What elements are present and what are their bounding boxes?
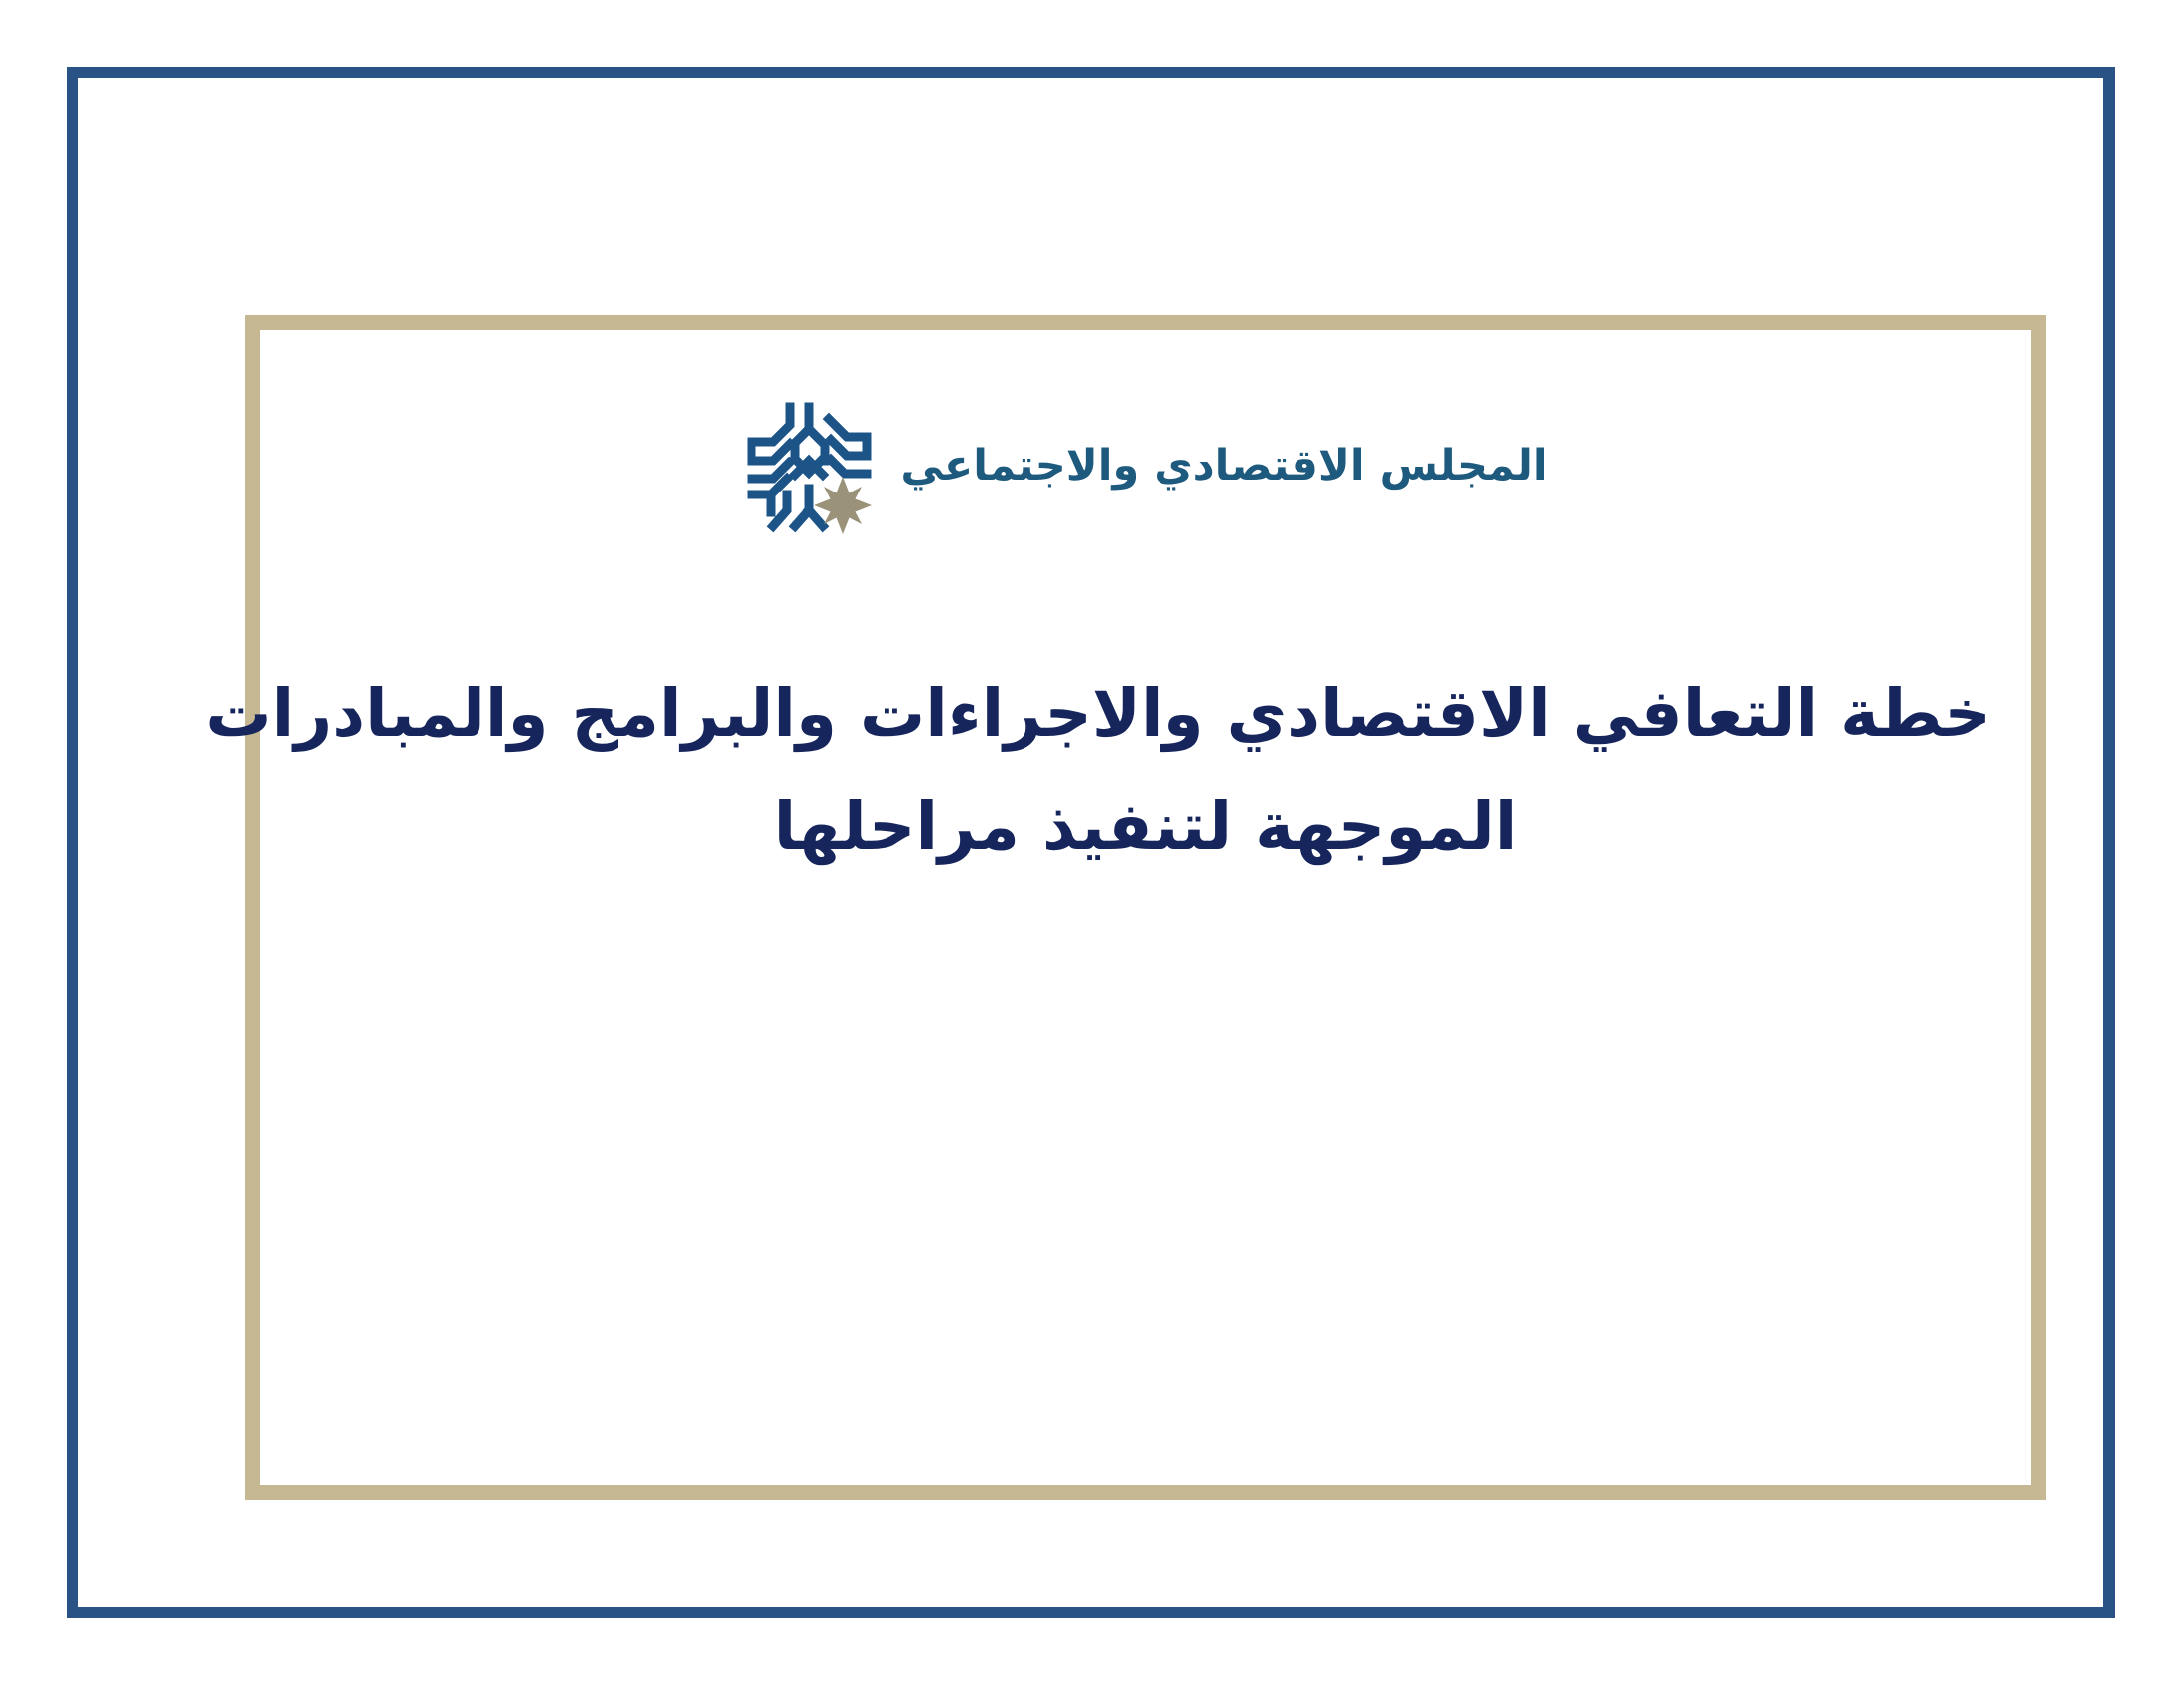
interlaced-geometric-knot-emblem [744, 399, 875, 534]
organization-logo: المجلس الاقتصادي والاجتماعي [260, 399, 2031, 534]
logo-emblem [744, 399, 875, 534]
logo-wordmark-text: المجلس الاقتصادي والاجتماعي [900, 443, 1547, 490]
cover-page: المجلس الاقتصادي والاجتماعي [0, 0, 2184, 1688]
inner-tan-frame: المجلس الاقتصادي والاجتماعي [245, 315, 2046, 1500]
title-line-2: الموجهة لتنفيذ مراحلها [300, 771, 1991, 884]
cover-title: خطة التعافي الاقتصادي والاجراءات والبرام… [300, 657, 1991, 883]
inner-content-area: المجلس الاقتصادي والاجتماعي [260, 330, 2031, 1485]
outer-blue-frame: المجلس الاقتصادي والاجتماعي [67, 67, 2115, 1618]
title-line-1: خطة التعافي الاقتصادي والاجراءات والبرام… [300, 657, 1991, 771]
